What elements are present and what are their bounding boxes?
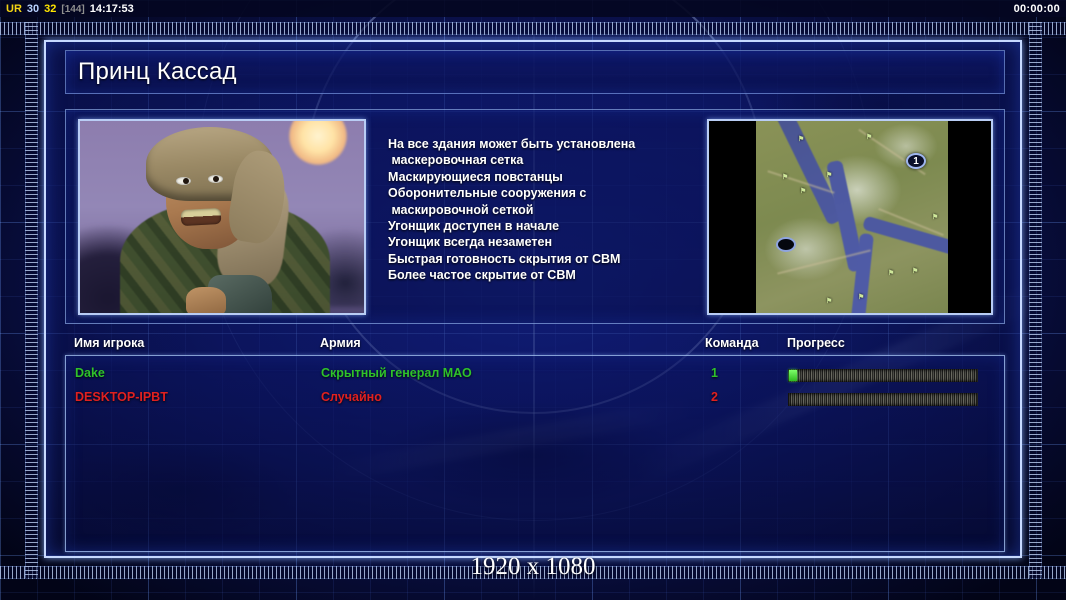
column-header-army: Армия bbox=[320, 336, 361, 350]
player-team: 2 bbox=[696, 390, 718, 404]
portrait-pupil-left bbox=[183, 178, 189, 184]
map-river-4 bbox=[862, 216, 948, 256]
map-start-position: ⚑ bbox=[912, 267, 919, 274]
resolution-label: 1920 x 1080 bbox=[0, 553, 1066, 581]
map-team-marker-1: 1 bbox=[906, 153, 926, 169]
player-progress-bar bbox=[788, 393, 978, 406]
map-start-position: ⚑ bbox=[826, 171, 833, 178]
ruler-top bbox=[0, 22, 1066, 35]
ruler-right bbox=[1029, 22, 1042, 578]
status-clock: 14:17:53 bbox=[90, 3, 134, 15]
map-start-position: ⚑ bbox=[858, 293, 865, 300]
status-value-3: [144] bbox=[61, 4, 84, 15]
portrait-pupil-right bbox=[213, 176, 219, 182]
player-army: Случайно bbox=[321, 390, 382, 404]
description-line: маскировочной сеткой bbox=[388, 202, 754, 218]
player-table-body: Dake Скрытный генерал МАО 1 DESKTOP-IPBT… bbox=[65, 355, 1005, 552]
status-bar: UR 30 32 [144] 14:17:53 00:00:00 bbox=[0, 0, 1066, 17]
description-line: маскеровочная сетка bbox=[388, 152, 754, 168]
map-start-position: ⚑ bbox=[932, 213, 939, 220]
general-portrait bbox=[78, 119, 366, 315]
title-bar: Принц Кассад bbox=[65, 50, 1005, 94]
description-line: Угонщик всегда незаметен bbox=[388, 234, 754, 250]
player-table-header: Имя игрока Армия Команда Прогресс bbox=[65, 336, 1005, 356]
status-value-1: 30 bbox=[27, 3, 39, 15]
map-start-position: ⚑ bbox=[826, 297, 833, 304]
map-highland-2 bbox=[764, 217, 848, 281]
description-line: Маскирующиеся повстанцы bbox=[388, 169, 754, 185]
portrait-hand bbox=[186, 287, 226, 315]
column-header-progress: Прогресс bbox=[787, 336, 845, 350]
player-progress-fill bbox=[789, 370, 797, 381]
status-ur-label: UR bbox=[6, 3, 22, 15]
player-name: DESKTOP-IPBT bbox=[75, 390, 168, 404]
portrait-mouth bbox=[181, 208, 222, 226]
description-line: Более частое скрытие от СВМ bbox=[388, 267, 754, 283]
map-start-position: ⚑ bbox=[782, 173, 789, 180]
description-line: Оборонительные сооружения с bbox=[388, 185, 754, 201]
map-preview: ⚑ ⚑ ⚑ ⚑ ⚑ ⚑ ⚑ ⚑ ⚑ ⚑ 1 bbox=[707, 119, 993, 315]
player-progress-bar bbox=[788, 369, 978, 382]
player-army: Скрытный генерал МАО bbox=[321, 366, 472, 380]
status-value-2: 32 bbox=[44, 3, 56, 15]
map-start-position: ⚑ bbox=[798, 135, 805, 142]
map-terrain: ⚑ ⚑ ⚑ ⚑ ⚑ ⚑ ⚑ ⚑ ⚑ ⚑ 1 bbox=[756, 121, 948, 315]
map-start-position: ⚑ bbox=[866, 133, 873, 140]
table-row: Dake Скрытный генерал МАО 1 bbox=[66, 366, 1006, 386]
status-timer: 00:00:00 bbox=[1014, 3, 1060, 15]
column-header-team: Команда bbox=[705, 336, 759, 350]
info-panel: На все здания может быть установлена мас… bbox=[65, 109, 1005, 324]
player-name: Dake bbox=[75, 366, 105, 380]
map-start-position: ⚑ bbox=[800, 187, 807, 194]
description-line: На все здания может быть установлена bbox=[388, 136, 754, 152]
table-row: DESKTOP-IPBT Случайно 2 bbox=[66, 390, 1006, 410]
map-player-slot-marker bbox=[776, 237, 796, 252]
description-line: Угонщик доступен в начале bbox=[388, 218, 754, 234]
map-start-position: ⚑ bbox=[888, 269, 895, 276]
page-title: Принц Кассад bbox=[66, 58, 237, 86]
description-line: Быстрая готовность скрытия от СВМ bbox=[388, 251, 754, 267]
column-header-name: Имя игрока bbox=[74, 336, 144, 350]
loading-dialog: Принц Кассад Н bbox=[44, 40, 1022, 558]
ruler-left bbox=[25, 22, 38, 578]
player-team: 1 bbox=[696, 366, 718, 380]
general-description: На все здания может быть установлена мас… bbox=[388, 136, 754, 284]
game-screen: UR 30 32 [144] 14:17:53 00:00:00 Принц К… bbox=[0, 0, 1066, 600]
